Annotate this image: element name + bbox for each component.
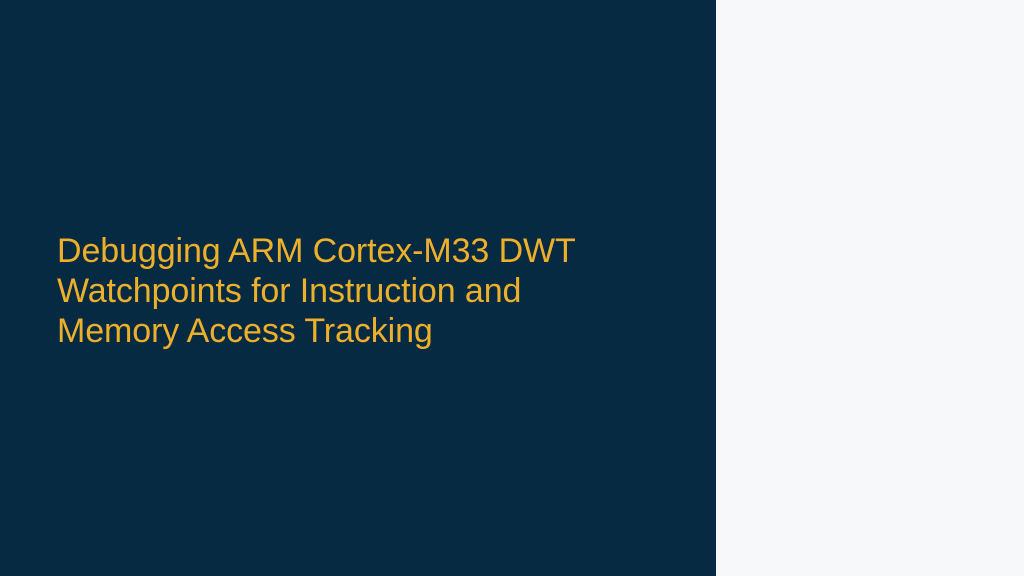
title-line-1: Debugging ARM Cortex-M33 DWT	[57, 231, 682, 271]
main-panel: Debugging ARM Cortex-M33 DWT Watchpoints…	[0, 0, 716, 576]
side-panel: Architectures & Processors	[716, 0, 1024, 576]
title-line-3: Memory Access Tracking	[57, 311, 682, 351]
title-line-2: Watchpoints for Instruction and	[57, 271, 682, 311]
slide-canvas: Debugging ARM Cortex-M33 DWT Watchpoints…	[0, 0, 1024, 576]
page-title: Debugging ARM Cortex-M33 DWT Watchpoints…	[57, 231, 682, 351]
